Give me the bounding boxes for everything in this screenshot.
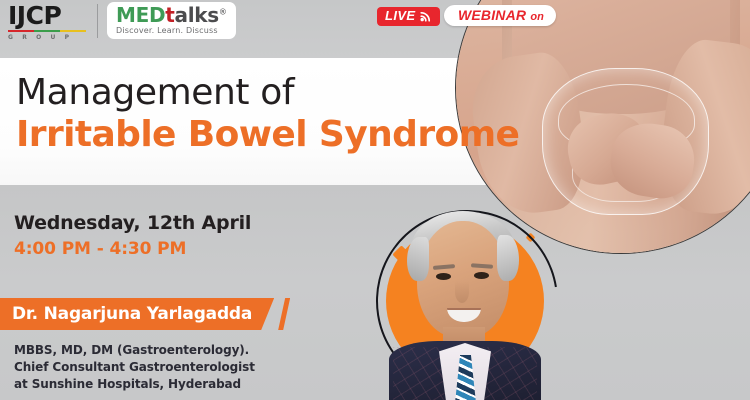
speaker-hair-right — [497, 235, 519, 281]
ijcp-wordmark: IJCP — [8, 3, 88, 28]
ribbon-accent-shape — [278, 298, 290, 330]
credential-line-1: MBBS, MD, DM (Gastroenterology). — [14, 342, 255, 359]
live-badge: LIVE — [377, 7, 440, 26]
speaker-name: Dr. Nagarjuna Yarlagadda — [12, 304, 252, 324]
webinar-badge: WEBINAR on — [444, 5, 556, 26]
speaker-credentials: MBBS, MD, DM (Gastroenterology). Chief C… — [14, 342, 255, 393]
speaker-eye-right — [474, 272, 489, 279]
speaker-name-ribbon: Dr. Nagarjuna Yarlagadda — [0, 298, 274, 330]
ijcp-color-bars — [8, 30, 86, 32]
ijcp-bar-yellow — [60, 30, 86, 32]
webinar-time: 4:00 PM - 4:30 PM — [14, 238, 251, 260]
webinar-on-label: on — [530, 11, 543, 23]
ijcp-logo[interactable]: IJCP G R O U P — [8, 2, 88, 41]
speaker-photo-image — [389, 203, 541, 400]
webinar-label: WEBINAR — [458, 7, 526, 23]
schedule-block: Wednesday, 12th April 4:00 PM - 4:30 PM — [14, 212, 251, 260]
medtalks-logo[interactable]: MEDtalks® Discover. Learn. Discuss — [107, 2, 236, 39]
medtalks-t-text: t — [165, 3, 174, 27]
credential-line-2: Chief Consultant Gastroenterologist — [14, 359, 255, 376]
credential-line-3: at Sunshine Hospitals, Hyderabad — [14, 376, 255, 393]
speaker-hair-left — [407, 237, 429, 281]
ijcp-group-label: G R O U P — [8, 34, 88, 41]
medtalks-alks-text: alks — [175, 3, 219, 27]
medtalks-tagline: Discover. Learn. Discuss — [116, 26, 227, 35]
webinar-date: Wednesday, 12th April — [14, 212, 251, 236]
title-line-1: Management of — [16, 74, 519, 113]
ijcp-bar-red — [8, 30, 34, 32]
medtalks-med-text: MED — [116, 3, 165, 27]
page-title: Management of Irritable Bowel Syndrome — [16, 74, 519, 154]
live-label: LIVE — [385, 8, 416, 24]
title-line-2: Irritable Bowel Syndrome — [16, 115, 519, 155]
logo-row: IJCP G R O U P MEDtalks® Discover. Learn… — [8, 2, 236, 46]
medtalks-wordmark: MEDtalks® — [116, 5, 227, 25]
ijcp-bar-green — [34, 30, 60, 32]
webinar-banner: IJCP G R O U P MEDtalks® Discover. Learn… — [0, 0, 750, 400]
speaker-nose — [455, 281, 469, 303]
live-webinar-badges: LIVE WEBINAR on — [371, 3, 556, 26]
speaker-name-banner: Dr. Nagarjuna Yarlagadda — [0, 298, 290, 330]
broadcast-signal-icon — [420, 10, 433, 22]
speaker-eye-left — [436, 273, 451, 280]
logo-divider — [97, 4, 98, 38]
registered-trademark-icon: ® — [219, 7, 227, 16]
speaker-portrait — [368, 200, 564, 400]
